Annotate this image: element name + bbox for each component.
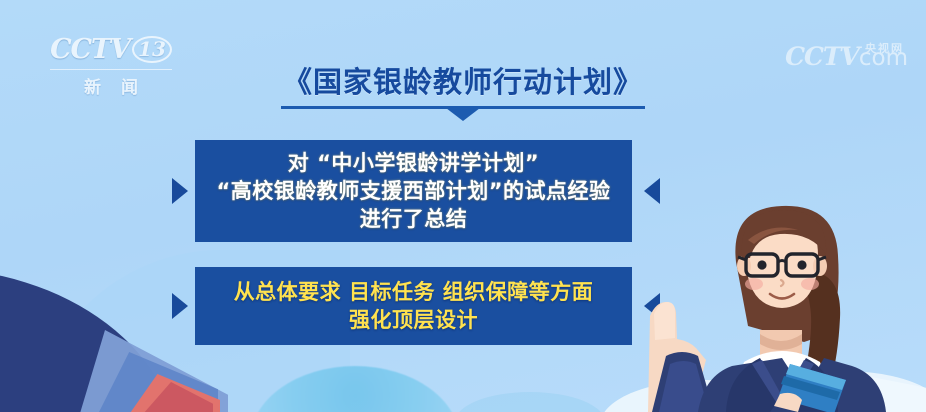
panel-1-line-3: 进行了总结 xyxy=(360,205,468,233)
decor-blue-ellipse xyxy=(455,392,605,412)
content-panel-1: 对 “中小学银龄讲学计划” “高校银龄教师支援西部计划”的试点经验 进行了总结 xyxy=(195,140,632,242)
triangle-right-icon xyxy=(172,293,188,319)
panel-2-line-2: 强化顶层设计 xyxy=(349,306,478,334)
panel-1-line-2: “高校银龄教师支援西部计划”的试点经验 xyxy=(216,177,610,205)
triangle-right-icon xyxy=(172,178,188,204)
watermark-cn-label: 央视网 xyxy=(865,40,904,56)
broadcast-graphic-screen: CCTV 13 新 闻 央视网 CCTVcom 《国家银龄教师行动计划》 对 “… xyxy=(0,0,926,412)
channel-logo-row: CCTV 13 xyxy=(50,34,172,65)
female-teacher-pointing-illustration xyxy=(640,196,926,412)
chevron-down-triangle-icon xyxy=(446,108,480,121)
headline-container: 《国家银龄教师行动计划》 xyxy=(0,64,926,109)
channel-number-badge: 13 xyxy=(132,36,172,63)
panel-2-line-1: 从总体要求 目标任务 组织保障等方面 xyxy=(234,278,594,306)
content-panel-2: 从总体要求 目标任务 组织保障等方面 强化顶层设计 xyxy=(195,267,632,345)
panel-1-line-1: 对 “中小学银龄讲学计划” xyxy=(288,149,539,177)
channel-brand-text: CCTV xyxy=(50,34,130,65)
page-title: 《国家银龄教师行动计划》 xyxy=(281,64,645,109)
